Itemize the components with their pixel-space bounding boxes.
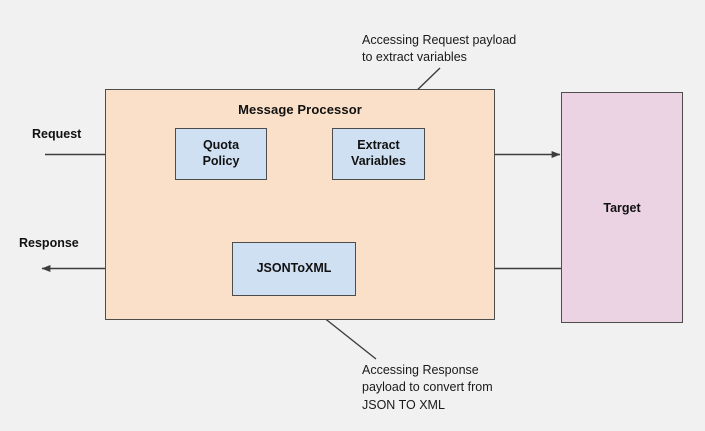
quota-policy-label: Quota Policy <box>203 138 240 169</box>
jsontoxml-label: JSONToXML <box>257 261 332 277</box>
request-annotation-text: Accessing Request payload to extract var… <box>362 32 572 67</box>
response-label: Response <box>19 236 79 250</box>
message-processor-title: Message Processor <box>238 102 362 117</box>
target-label: Target <box>603 201 640 215</box>
target-node[interactable]: Target <box>561 92 683 323</box>
diagram-canvas: Message Processor Quota Policy Extract V… <box>0 0 705 431</box>
response-annotation-text: Accessing Response payload to convert fr… <box>362 362 562 414</box>
request-label: Request <box>32 127 81 141</box>
extract-variables-label: Extract Variables <box>351 138 406 169</box>
jsontoxml-node[interactable]: JSONToXML <box>232 242 356 296</box>
quota-policy-node[interactable]: Quota Policy <box>175 128 267 180</box>
extract-variables-node[interactable]: Extract Variables <box>332 128 425 180</box>
